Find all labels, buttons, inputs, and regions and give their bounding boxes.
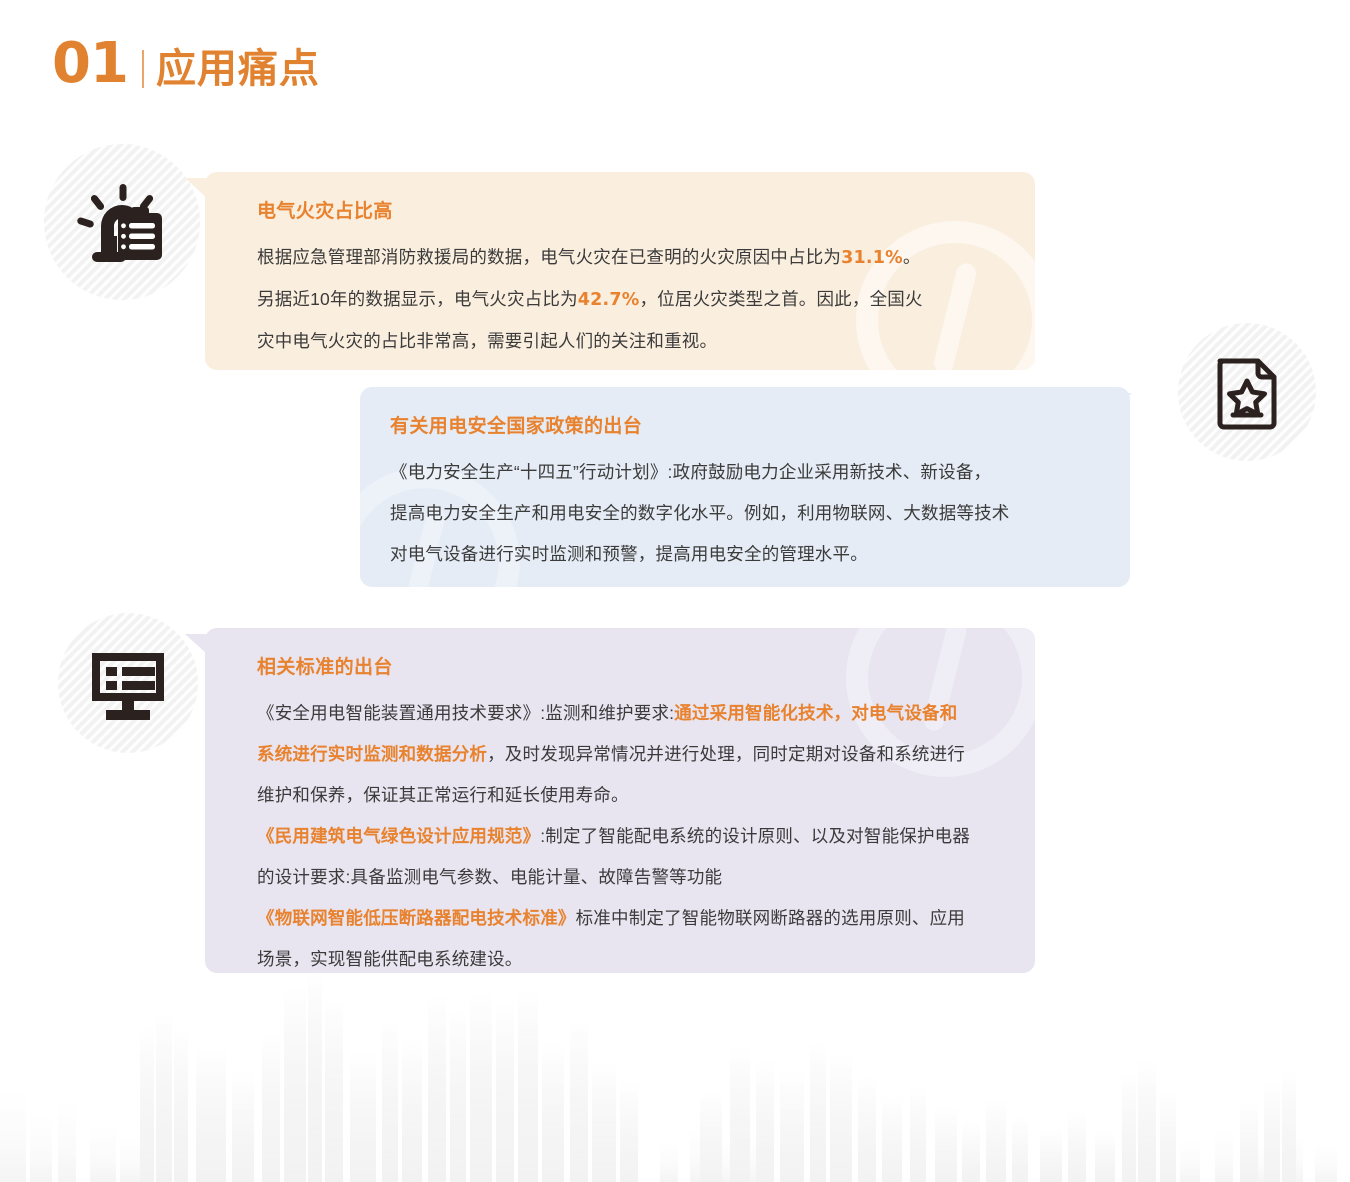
text-run: 维护和保养，保证其正常运行和延长使用寿命。 bbox=[257, 785, 629, 805]
body-line: 系统进行实时监测和数据分析，及时发现异常情况并进行处理，同时定期对设备和系统进行 bbox=[257, 734, 1035, 775]
standard-name: 《民用建筑电气绿色设计应用规范》 bbox=[257, 826, 540, 846]
body-line: 的设计要求:具备监测电气参数、电能计量、故障告警等功能 bbox=[257, 857, 1035, 898]
bubble-related-standards: 相关标准的出台 《安全用电智能装置通用技术要求》:监测和维护要求:通过采用智能化… bbox=[205, 628, 1035, 973]
text-run: 标准中制定了智能物联网断路器的选用原则、应用 bbox=[576, 908, 965, 928]
city-skyline-decoration bbox=[0, 952, 1350, 1182]
highlight-run: 通过采用智能化技术，对电气设备和 bbox=[674, 703, 957, 723]
body-line: 对电气设备进行实时监测和预警，提高用电安全的管理水平。 bbox=[390, 534, 1130, 575]
text-run: 提高电力安全生产和用电安全的数字化水平。例如，利用物联网、大数据等技术 bbox=[390, 503, 1010, 523]
text-run: 。 bbox=[903, 247, 921, 267]
standard-name: 《物联网智能低压断路器配电技术标准》 bbox=[257, 908, 576, 928]
page-root: 01 应用痛点 bbox=[0, 0, 1350, 1182]
body-line: 灾中电气火灾的占比非常高，需要引起人们的关注和重视。 bbox=[257, 321, 1035, 362]
highlight-run: 系统进行实时监测和数据分析 bbox=[257, 744, 487, 764]
bubble-electrical-fire-ratio: 电气火灾占比高 根据应急管理部消防救援局的数据，电气火灾在已查明的火灾原因中占比… bbox=[205, 172, 1035, 370]
stat-value: 42.7% bbox=[578, 290, 640, 310]
monitor-list-icon-circle bbox=[58, 613, 198, 753]
bubble-title: 相关标准的出台 bbox=[257, 652, 1035, 679]
alarm-clipboard-icon bbox=[74, 174, 170, 270]
certificate-star-icon-circle bbox=[1178, 323, 1316, 461]
body-line: 《电力安全生产“十四五”行动计划》:政府鼓励电力企业采用新技术、新设备， bbox=[390, 452, 1130, 493]
text-run: :制定了智能配电系统的设计原则、以及对智能保护电器 bbox=[540, 826, 970, 846]
text-run: 根据应急管理部消防救援局的数据，电气火灾在已查明的火灾原因中占比为 bbox=[257, 247, 841, 267]
stat-value: 31.1% bbox=[841, 248, 903, 268]
body-line: 根据应急管理部消防救援局的数据，电气火灾在已查明的火灾原因中占比为31.1%。 bbox=[257, 237, 1035, 279]
bubble-title: 电气火灾占比高 bbox=[257, 196, 1035, 223]
section-number: 01 bbox=[52, 36, 128, 92]
page-title: 应用痛点 bbox=[156, 49, 320, 89]
text-run: 对电气设备进行实时监测和预警，提高用电安全的管理水平。 bbox=[390, 544, 868, 564]
alarm-clipboard-icon-circle bbox=[44, 144, 200, 300]
text-run: 《电力安全生产“十四五”行动计划》:政府鼓励电力企业采用新技术、新设备， bbox=[390, 462, 991, 482]
certificate-star-icon bbox=[1206, 351, 1288, 433]
body-line: 另据近10年的数据显示，电气火灾占比为42.7%，位居火灾类型之首。因此，全国火 bbox=[257, 279, 1035, 321]
body-line: 提高电力安全生产和用电安全的数字化水平。例如，利用物联网、大数据等技术 bbox=[390, 493, 1130, 534]
bubble-national-policy: 有关用电安全国家政策的出台 《电力安全生产“十四五”行动计划》:政府鼓励电力企业… bbox=[360, 387, 1130, 587]
text-run: 另据近10年的数据显示，电气火灾占比为 bbox=[257, 289, 578, 309]
bubble-body: 根据应急管理部消防救援局的数据，电气火灾在已查明的火灾原因中占比为31.1%。 … bbox=[257, 237, 1035, 362]
bubble-body: 《电力安全生产“十四五”行动计划》:政府鼓励电力企业采用新技术、新设备， 提高电… bbox=[390, 452, 1130, 575]
text-run: 场景，实现智能供配电系统建设。 bbox=[257, 949, 523, 969]
header-divider bbox=[142, 50, 144, 88]
bubble-title: 有关用电安全国家政策的出台 bbox=[390, 411, 1130, 438]
page-header: 01 应用痛点 bbox=[52, 36, 320, 92]
monitor-list-icon bbox=[86, 641, 170, 725]
body-line: 《民用建筑电气绿色设计应用规范》:制定了智能配电系统的设计原则、以及对智能保护电… bbox=[257, 816, 1035, 857]
text-run: 的设计要求:具备监测电气参数、电能计量、故障告警等功能 bbox=[257, 867, 722, 887]
body-line: 维护和保养，保证其正常运行和延长使用寿命。 bbox=[257, 775, 1035, 816]
body-line: 《安全用电智能装置通用技术要求》:监测和维护要求:通过采用智能化技术，对电气设备… bbox=[257, 693, 1035, 734]
bubble-body: 《安全用电智能装置通用技术要求》:监测和维护要求:通过采用智能化技术，对电气设备… bbox=[257, 693, 1035, 973]
body-line: 《物联网智能低压断路器配电技术标准》标准中制定了智能物联网断路器的选用原则、应用 bbox=[257, 898, 1035, 939]
text-run: ，位居火灾类型之首。因此，全国火 bbox=[639, 289, 922, 309]
text-run: 《安全用电智能装置通用技术要求》:监测和维护要求: bbox=[257, 703, 674, 723]
body-line: 场景，实现智能供配电系统建设。 bbox=[257, 939, 1035, 973]
bubble-tail-2 bbox=[1110, 393, 1132, 413]
text-run: ，及时发现异常情况并进行处理，同时定期对设备和系统进行 bbox=[487, 744, 965, 764]
text-run: 灾中电气火灾的占比非常高，需要引起人们的关注和重视。 bbox=[257, 331, 717, 351]
